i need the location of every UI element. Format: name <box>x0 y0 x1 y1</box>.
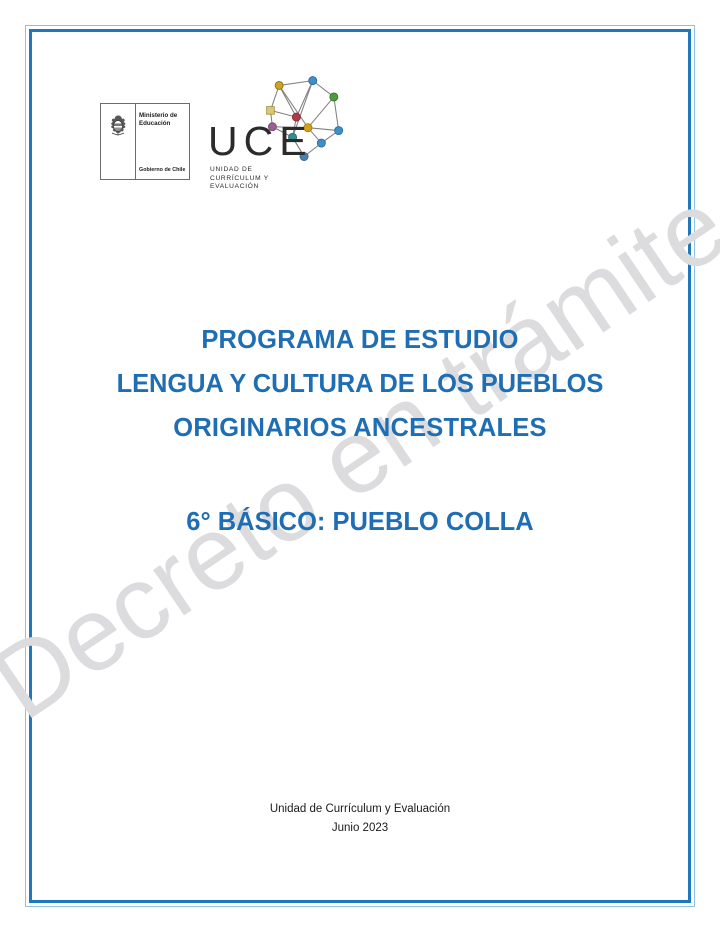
page-footer: Unidad de Currículum y Evaluación Junio … <box>60 800 660 838</box>
logo-divider <box>135 104 136 179</box>
uce-subtitle-line1: UNIDAD DE <box>210 166 253 173</box>
chile-coat-of-arms-icon <box>105 114 131 136</box>
uce-logo: UCE UNIDAD DE CURRÍCULUM Y EVALUACIÓN <box>208 74 370 204</box>
page-title-block: PROGRAMA DE ESTUDIO LENGUA Y CULTURA DE … <box>60 318 660 540</box>
ministerio-line1: Ministerio de <box>139 112 177 119</box>
uce-subtitle: UNIDAD DE CURRÍCULUM Y EVALUACIÓN <box>210 166 296 192</box>
uce-subtitle-line2: CURRÍCULUM Y <box>210 175 269 182</box>
title-line-2: LENGUA Y CULTURA DE LOS PUEBLOS <box>60 362 660 406</box>
gobierno-label: Gobierno de Chile <box>139 167 189 173</box>
uce-acronym: UCE <box>208 121 313 162</box>
document-page: Decreto en trámite Ministerio de Educaci… <box>0 0 720 932</box>
footer-unit: Unidad de Currículum y Evaluación <box>60 800 660 819</box>
title-line-1: PROGRAMA DE ESTUDIO <box>60 318 660 362</box>
title-line-3: ORIGINARIOS ANCESTRALES <box>60 406 660 450</box>
ministerio-line2: Educación <box>139 120 170 127</box>
ministerio-educacion-logo: Ministerio de Educación Gobierno de Chil… <box>100 103 190 180</box>
uce-subtitle-line3: EVALUACIÓN <box>210 183 259 190</box>
footer-date: Junio 2023 <box>60 819 660 838</box>
title-spacer <box>60 450 660 504</box>
ministerio-label: Ministerio de Educación <box>139 112 189 127</box>
logo-band: Ministerio de Educación Gobierno de Chil… <box>100 74 370 204</box>
page-subtitle: 6° BÁSICO: PUEBLO COLLA <box>60 504 660 540</box>
